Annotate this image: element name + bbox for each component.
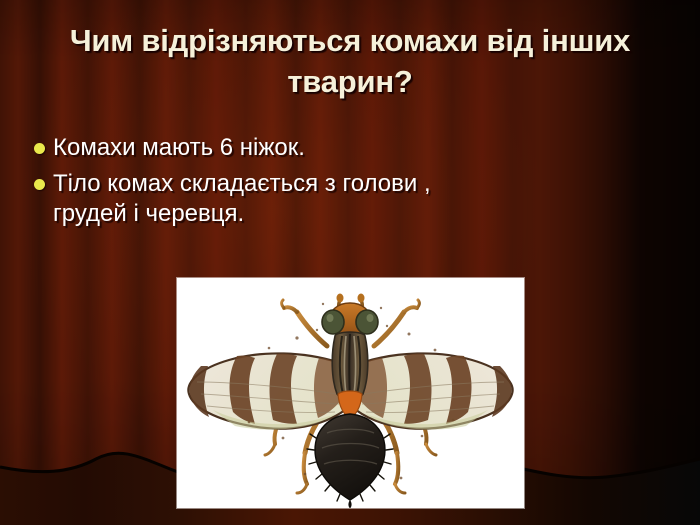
insect-drawing bbox=[177, 278, 524, 508]
bullet-marker-icon bbox=[34, 143, 45, 154]
bullet-item-label: Тіло комах складається з голови , грудей… bbox=[53, 169, 431, 230]
insect-illustration bbox=[177, 278, 524, 508]
bullet-list: Комахи мають 6 ніжок. Тіло комах складає… bbox=[34, 133, 654, 235]
presentation-slide: Чим відрізняються комахи від інших твари… bbox=[0, 0, 700, 525]
slide-title: Чим відрізняються комахи від інших твари… bbox=[14, 20, 686, 102]
list-item: Тіло комах складається з голови , грудей… bbox=[34, 169, 654, 230]
list-item: Комахи мають 6 ніжок. bbox=[34, 133, 654, 164]
bullet-marker-icon bbox=[34, 179, 45, 190]
bullet-item-label: Комахи мають 6 ніжок. bbox=[53, 133, 305, 164]
